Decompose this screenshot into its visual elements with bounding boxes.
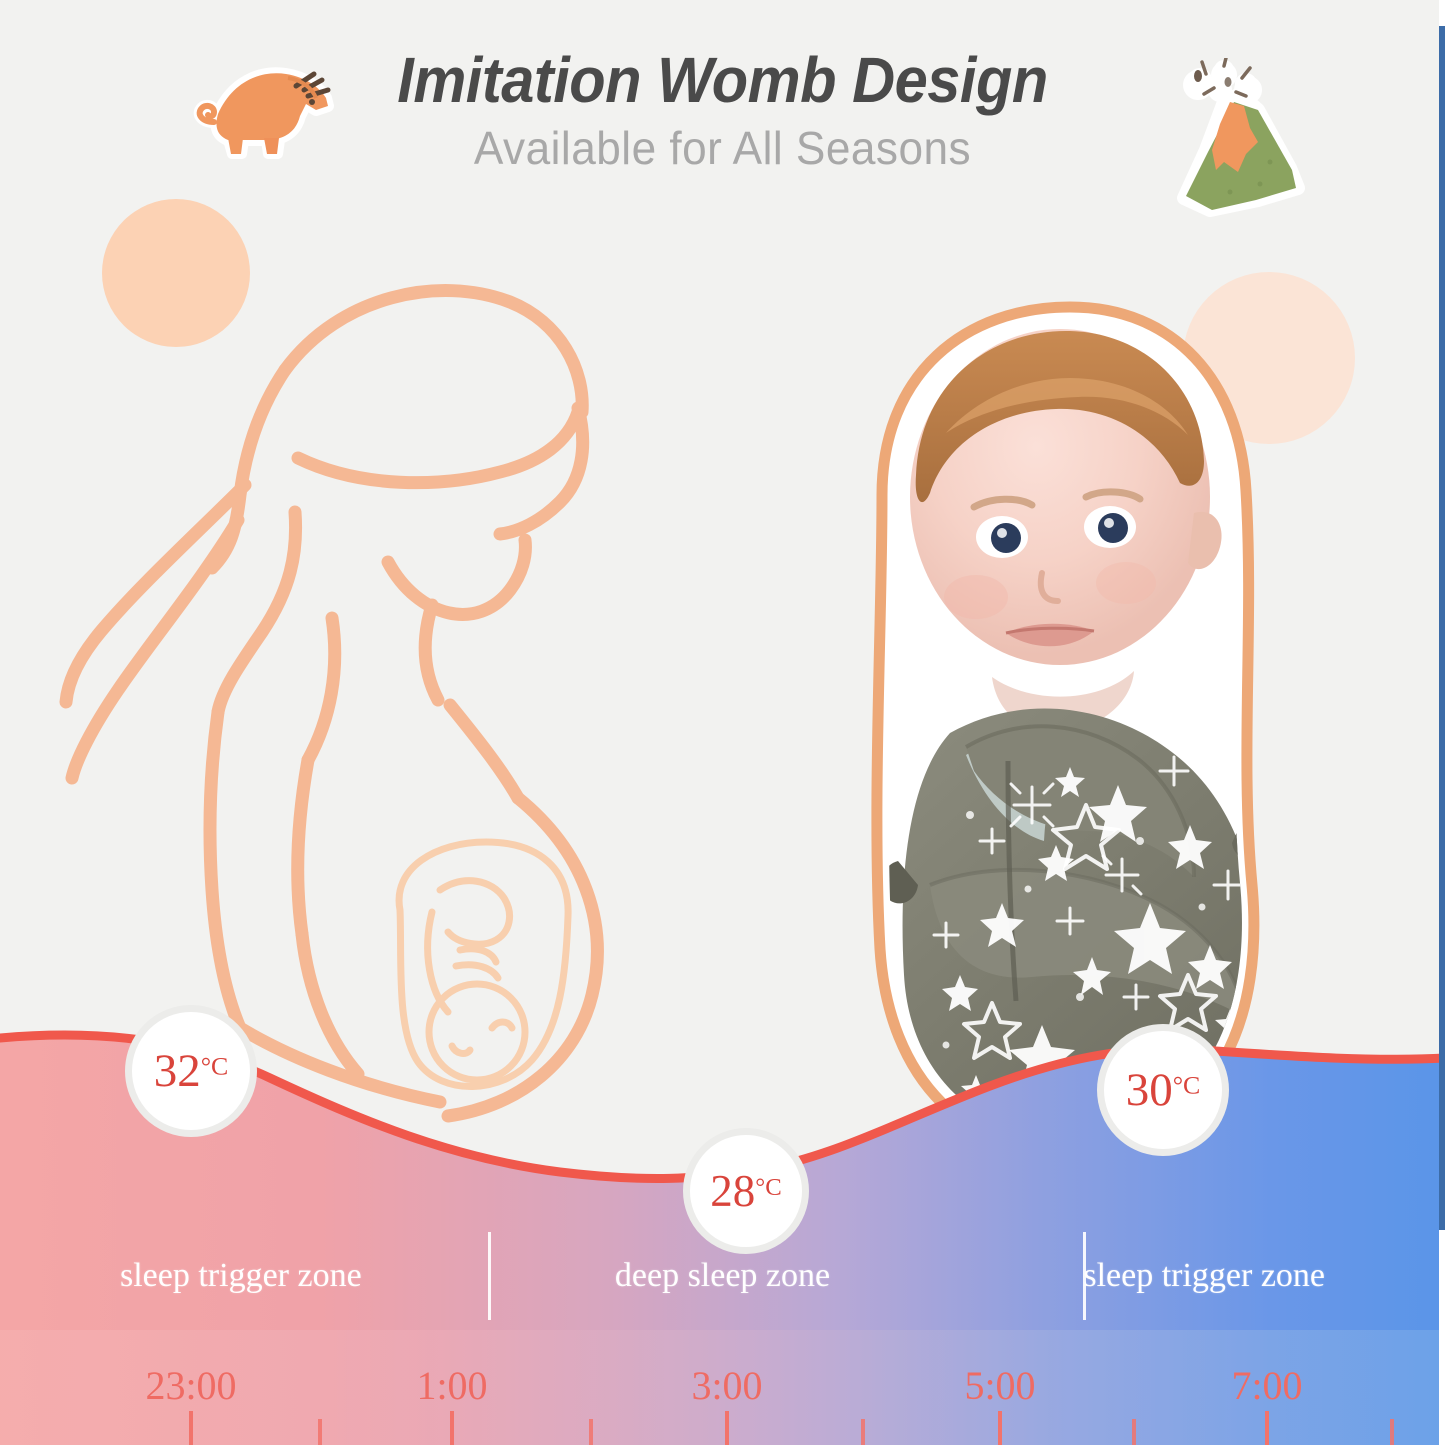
zone-divider-1 [488, 1232, 491, 1320]
axis-tick-major-1 [450, 1411, 454, 1445]
axis-tick-major-0 [189, 1411, 193, 1445]
time-label-0: 23:00 [145, 1362, 236, 1409]
time-label-3: 5:00 [964, 1362, 1035, 1409]
zone-divider-2 [1083, 1232, 1086, 1320]
infographic-root: Imitation Womb Design Available for All … [0, 0, 1445, 1445]
axis-tick-minor-0 [318, 1419, 322, 1445]
temperature-badge-middle: 28°C [683, 1128, 809, 1254]
time-label-4: 7:00 [1231, 1362, 1302, 1409]
volcano-icon [1162, 58, 1312, 220]
zone-dividers [0, 1240, 1445, 1328]
axis-tick-minor-4 [1390, 1419, 1394, 1445]
right-edge-strip [1439, 0, 1445, 1445]
time-label-2: 3:00 [691, 1362, 762, 1409]
temperature-badge-right: 30°C [1097, 1024, 1229, 1156]
temperature-badge-left-text: 32°C [154, 1048, 229, 1095]
temperature-badge-middle-text: 28°C [710, 1169, 781, 1214]
temperature-badge-left: 32°C [125, 1005, 257, 1137]
axis-tick-minor-2 [861, 1419, 865, 1445]
time-label-1: 1:00 [416, 1362, 487, 1409]
dinosaur-icon [188, 52, 336, 164]
temperature-badge-right-text: 30°C [1126, 1067, 1201, 1114]
time-axis: 23:001:003:005:007:00 [0, 1362, 1445, 1445]
axis-tick-minor-3 [1132, 1419, 1136, 1445]
axis-tick-minor-1 [589, 1419, 593, 1445]
axis-tick-major-2 [725, 1411, 729, 1445]
axis-tick-major-4 [1265, 1411, 1269, 1445]
axis-tick-major-3 [998, 1411, 1002, 1445]
